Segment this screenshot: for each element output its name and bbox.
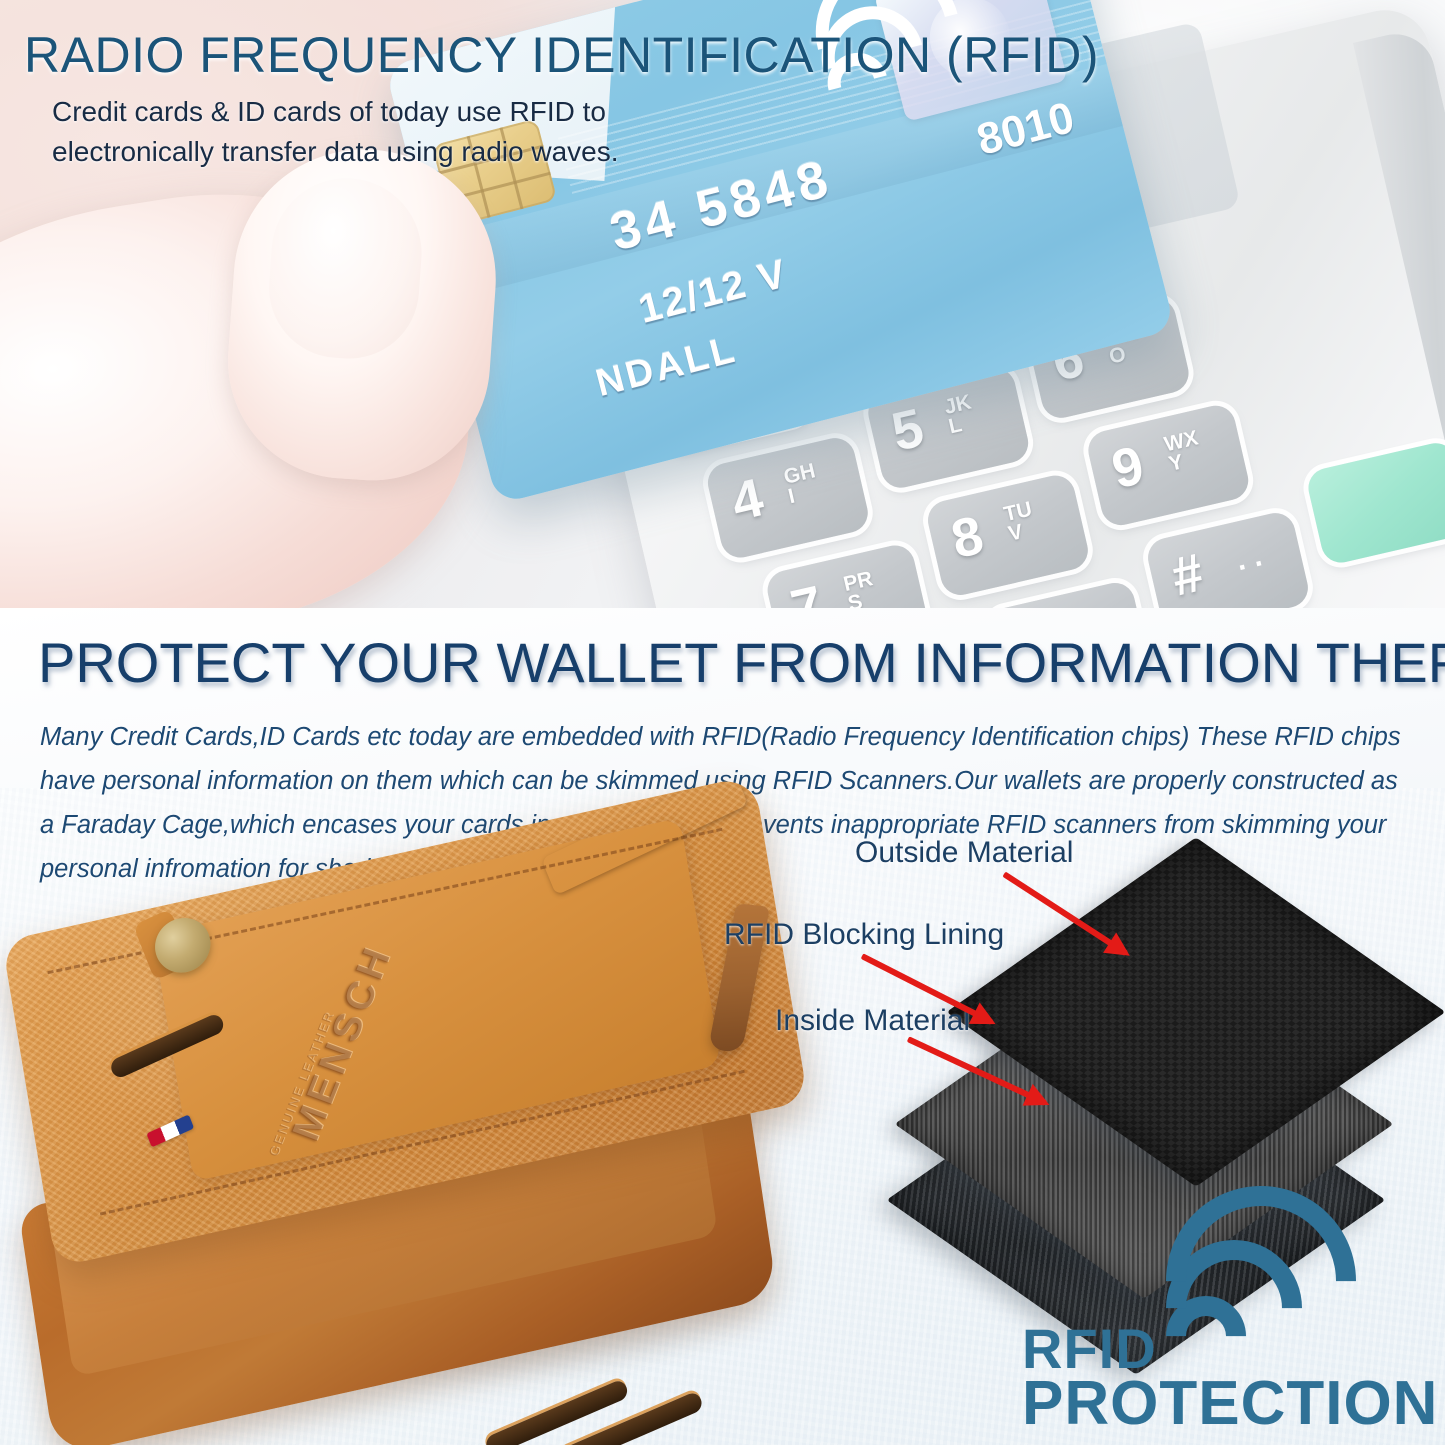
key-letters: JKL	[942, 392, 977, 437]
label-inside-material: Inside Material	[775, 1004, 970, 1038]
rfid-protection-badge: RFID PROTECTION	[1022, 1244, 1422, 1440]
keypad-key-4[interactable]: 4 GHI	[704, 434, 872, 561]
key-dots: ··	[1235, 545, 1276, 586]
rfid-signal-arcs-icon	[1166, 1244, 1316, 1376]
badge-line-2: PROTECTION	[1022, 1368, 1438, 1439]
wallet-protection-panel: PROTECT YOUR WALLET FROM INFORMATION THE…	[0, 608, 1445, 1445]
key-digit: 5	[887, 401, 927, 460]
key-letters: TUV	[1002, 500, 1038, 545]
label-rfid-blocking-lining: RFID Blocking Lining	[724, 918, 1004, 952]
infographic-page: 1 QZ 2 ABC 3 DEF 4 GHI 5 JKL	[0, 0, 1445, 1445]
key-letters: WXY	[1163, 428, 1205, 474]
label-outside-material: Outside Material	[855, 836, 1073, 870]
page-title-rfid: RADIO FREQUENCY IDENTIFICATION (RFID)	[24, 26, 1099, 84]
page-title-protect: PROTECT YOUR WALLET FROM INFORMATION THE…	[38, 630, 1445, 695]
key-digit: 9	[1107, 438, 1147, 497]
hand-holding-card	[0, 94, 643, 628]
card-expiry: 12/12 V	[634, 251, 792, 333]
finger	[220, 141, 504, 488]
keypad-key-9[interactable]: 9 WXY	[1084, 402, 1252, 529]
keypad-enter-key[interactable]	[1304, 439, 1445, 566]
rfid-intro-panel: 1 QZ 2 ABC 3 DEF 4 GHI 5 JKL	[0, 0, 1445, 628]
rfid-description: Credit cards & ID cards of today use RFI…	[52, 92, 742, 172]
key-digit: 4	[727, 471, 767, 530]
keypad-key-8[interactable]: 8 TUV	[924, 472, 1092, 599]
key-digit: #	[1167, 545, 1207, 604]
key-letters: GHI	[782, 461, 822, 507]
leather-wallet: MENSCH GENUINE LEATHER	[10, 840, 830, 1440]
key-digit: 8	[947, 508, 987, 567]
fingernail	[264, 173, 426, 363]
material-layers-diagram	[980, 878, 1410, 1238]
